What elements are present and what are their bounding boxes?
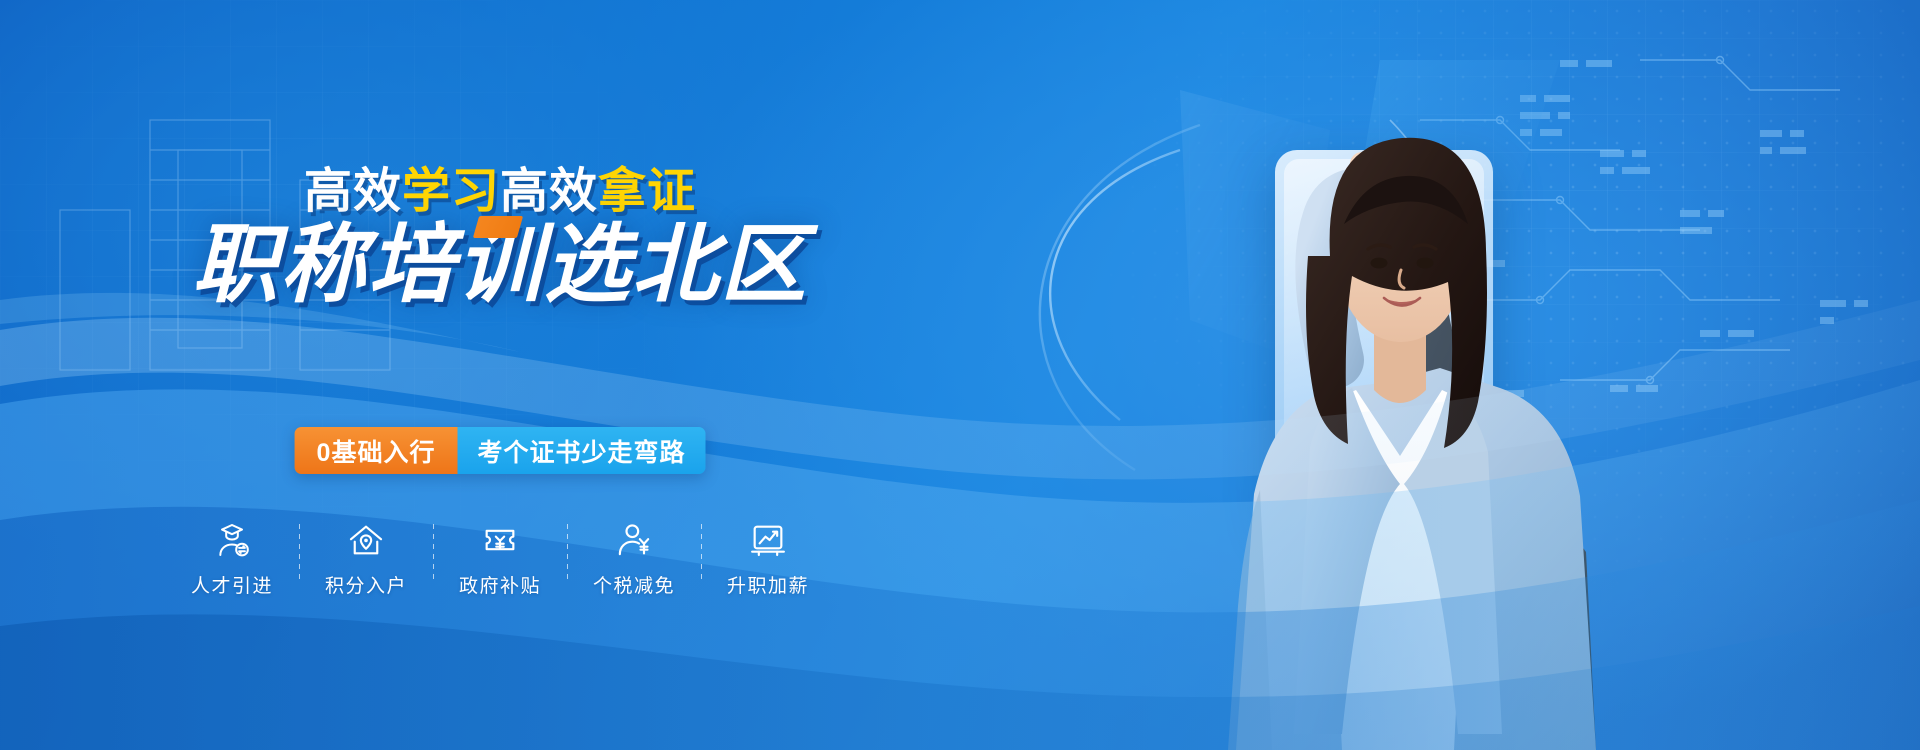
- tagline-top: 高效学习高效拿证: [0, 168, 1000, 216]
- promo-banner: 高效学习高效拿证 职称培训选北区 0基础入行 考个证书少走弯路: [0, 0, 1920, 750]
- orange-accent-mark: [473, 216, 523, 238]
- banner-content: 高效学习高效拿证 职称培训选北区 0基础入行 考个证书少走弯路: [0, 0, 1000, 750]
- tagline-part-4: 拿证: [598, 165, 696, 218]
- tagline-part-1: 高效: [304, 165, 402, 218]
- badge-left-label: 0基础入行: [295, 427, 458, 474]
- headline-row: 职称培训选北区: [0, 222, 1000, 308]
- house-location-pin-icon: [346, 520, 386, 560]
- feature-list: 人才引进 积分入户: [0, 520, 1000, 598]
- feature-item-subsidy[interactable]: 政府补贴: [433, 520, 567, 598]
- feature-item-residence[interactable]: 积分入户: [299, 520, 433, 598]
- coupon-yuan-icon: [480, 520, 520, 560]
- feature-label-subsidy: 政府补贴: [459, 571, 541, 598]
- feature-item-tax[interactable]: 个税减免: [567, 520, 701, 598]
- hero-visual: [940, 0, 1920, 750]
- chart-board-growth-icon: [748, 520, 788, 560]
- feature-label-promotion: 升职加薪: [727, 571, 809, 598]
- feature-label-tax: 个税减免: [593, 571, 675, 598]
- tagline-part-2: 学习: [402, 165, 500, 218]
- presenter-photo: [1130, 60, 1690, 750]
- feature-label-talent: 人才引进: [191, 571, 273, 598]
- badge-right-label: 考个证书少走弯路: [457, 427, 705, 474]
- tagline-part-3: 高效: [500, 165, 598, 218]
- feature-label-residence: 积分入户: [325, 571, 407, 598]
- graduate-person-icon: [212, 520, 252, 560]
- feature-item-talent[interactable]: 人才引进: [165, 520, 299, 598]
- feature-item-promotion[interactable]: 升职加薪: [701, 520, 835, 598]
- subtitle-badge[interactable]: 0基础入行 考个证书少走弯路: [295, 427, 706, 474]
- person-yuan-icon: [614, 520, 654, 560]
